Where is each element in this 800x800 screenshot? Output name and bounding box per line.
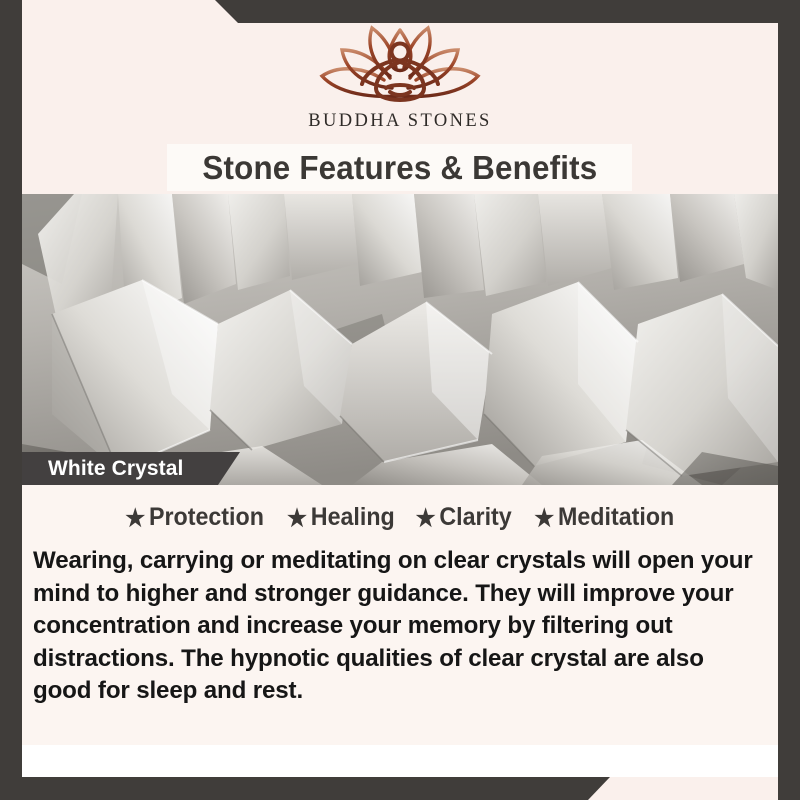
content-footer-space [22, 745, 778, 777]
feature-item: ★Healing [287, 503, 395, 533]
feature-item: ★Clarity [416, 503, 512, 533]
frame-right-bar [778, 0, 800, 800]
title-banner: Stone Features & Benefits [167, 144, 632, 191]
content-section: ★Protection ★Healing ★Clarity ★Meditatio… [22, 485, 778, 777]
page-title: Stone Features & Benefits [202, 149, 597, 187]
description-text: Wearing, carrying or meditating on clear… [33, 545, 760, 708]
frame-bottom-bar [0, 777, 800, 800]
star-icon: ★ [416, 505, 436, 532]
feature-item: ★Protection [126, 503, 265, 533]
feature-item: ★Meditation [534, 503, 674, 533]
star-icon: ★ [287, 505, 307, 532]
feature-label: Meditation [558, 503, 674, 531]
star-icon: ★ [126, 505, 146, 532]
brand-name: BUDDHA STONES [22, 111, 778, 132]
stone-name-badge: White Crystal [22, 452, 240, 485]
feature-label: Healing [311, 503, 395, 531]
brand-logo: BUDDHA STONES [22, 18, 778, 132]
feature-label: Clarity [440, 503, 512, 531]
lotus-meditation-logo-icon [300, 18, 500, 110]
crystal-photo-image [22, 194, 778, 485]
crystal-photo [22, 194, 778, 485]
star-icon: ★ [534, 505, 554, 532]
poster: BUDDHA STONES Stone Features & Benefits [0, 0, 800, 800]
feature-label: Protection [149, 503, 264, 531]
stone-name-label: White Crystal [22, 457, 184, 481]
frame-left-bar [0, 0, 22, 800]
feature-list: ★Protection ★Healing ★Clarity ★Meditatio… [22, 503, 778, 533]
